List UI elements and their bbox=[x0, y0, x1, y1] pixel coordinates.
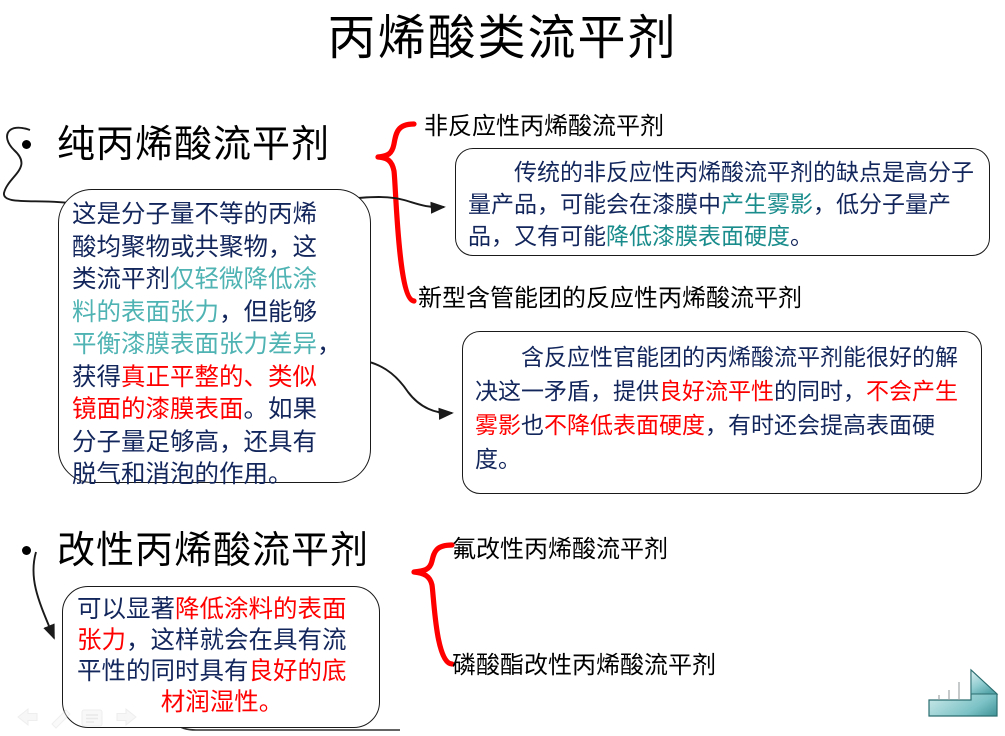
page-title: 丙烯酸类流平剂 bbox=[0, 8, 1005, 68]
bullet-pure-acrylic: 纯丙烯酸流平剂 bbox=[22, 122, 330, 166]
text-segment: ，但能够 bbox=[219, 297, 317, 326]
callout-reactive-text: 含反应性官能团的丙烯酸流平剂能很好的解决这一矛盾，提供良好流平性的同时，不会产生… bbox=[463, 332, 981, 481]
text-segment: 料的表面张力 bbox=[72, 297, 219, 326]
sub-heading-fluoro-modified: 氟改性丙烯酸流平剂 bbox=[452, 534, 668, 564]
sub-heading-reactive: 新型含管能团的反应性丙烯酸流平剂 bbox=[418, 283, 802, 313]
bullet-dot-icon bbox=[22, 140, 31, 149]
house-logo-roof bbox=[971, 670, 997, 694]
callout-reactive: 含反应性官能团的丙烯酸流平剂能很好的解决这一矛盾，提供良好流平性的同时，不会产生… bbox=[462, 331, 982, 494]
text-segment: ， bbox=[317, 329, 342, 358]
previous-slide-icon[interactable] bbox=[18, 709, 37, 725]
text-segment: 脱气和消泡的作用。 bbox=[72, 459, 293, 488]
text-segment: ，这样就会在具有流 bbox=[126, 625, 347, 654]
text-segment: 。 bbox=[790, 224, 813, 250]
text-segment: 也 bbox=[521, 413, 544, 439]
house-logo-bars bbox=[939, 682, 959, 700]
text-segment: 这是分子量不等的丙烯 bbox=[72, 199, 317, 228]
text-segment: 良好的底 bbox=[249, 656, 347, 685]
slideshow-nav-icons[interactable] bbox=[4, 702, 144, 732]
text-segment: 。如果 bbox=[244, 394, 318, 423]
callout-pure-acrylic: 这是分子量不等的丙烯酸均聚物或共聚物，这类流平剂仅轻微降低涂料的表面张力，但能够… bbox=[58, 189, 371, 483]
sub-heading-phosphate-modified: 磷酸酯改性丙烯酸流平剂 bbox=[452, 650, 716, 680]
text-segment: 良好流平性 bbox=[659, 379, 774, 405]
text-segment: 的同时， bbox=[774, 379, 866, 405]
text-segment: 分子量足够高，还具有 bbox=[72, 427, 317, 456]
text-segment: 张力 bbox=[77, 625, 126, 654]
bullet-dot-icon bbox=[22, 546, 31, 555]
next-slide-icon[interactable] bbox=[117, 709, 136, 725]
bullet-modified-acrylic-label: 改性丙烯酸流平剂 bbox=[57, 528, 369, 572]
text-segment: 获得 bbox=[72, 362, 121, 391]
text-segment: 产生雾影 bbox=[721, 192, 813, 218]
callout-modified-acrylic-text: 可以显著降低涂料的表面张力，这样就会在具有流平性的同时具有良好的底材润湿性。 bbox=[63, 587, 379, 719]
bullet-modified-acrylic: 改性丙烯酸流平剂 bbox=[22, 528, 369, 572]
text-segment: 降低涂料的表面 bbox=[175, 594, 347, 623]
brace-acrylic-types bbox=[378, 124, 414, 301]
slide-canvas: 丙烯酸类流平剂 bbox=[0, 0, 1005, 736]
text-segment: 不降低表面硬度 bbox=[544, 413, 705, 439]
text-segment: 仅轻微降低涂 bbox=[170, 264, 317, 293]
text-segment: 镜面的漆膜表面 bbox=[72, 394, 244, 423]
text-segment: 类流平剂 bbox=[72, 264, 170, 293]
text-segment: 可以显著 bbox=[77, 594, 175, 623]
text-segment: 平性的同时具有 bbox=[77, 656, 249, 685]
house-logo bbox=[921, 666, 999, 730]
pen-tool-icon[interactable] bbox=[52, 710, 70, 728]
text-segment: 降低漆膜表面硬度 bbox=[606, 224, 790, 250]
text-segment: 真正平整的、类似 bbox=[121, 362, 317, 391]
callout-pure-acrylic-text: 这是分子量不等的丙烯酸均聚物或共聚物，这类流平剂仅轻微降低涂料的表面张力，但能够… bbox=[59, 190, 370, 495]
text-segment: 酸均聚物或共聚物，这 bbox=[72, 232, 317, 261]
text-segment: 平衡漆膜表面张力差异 bbox=[72, 329, 317, 358]
brace-modified-types bbox=[414, 545, 452, 664]
sub-heading-non-reactive: 非反应性丙烯酸流平剂 bbox=[424, 111, 664, 141]
text-segment: 材润湿性。 bbox=[161, 687, 284, 716]
bullet-pure-acrylic-label: 纯丙烯酸流平剂 bbox=[57, 122, 330, 166]
callout-non-reactive: 传统的非反应性丙烯酸流平剂的缺点是高分子量产品，可能会在漆膜中产生雾影，低分子量… bbox=[455, 148, 990, 256]
callout-non-reactive-text: 传统的非反应性丙烯酸流平剂的缺点是高分子量产品，可能会在漆膜中产生雾影，低分子量… bbox=[456, 149, 989, 257]
